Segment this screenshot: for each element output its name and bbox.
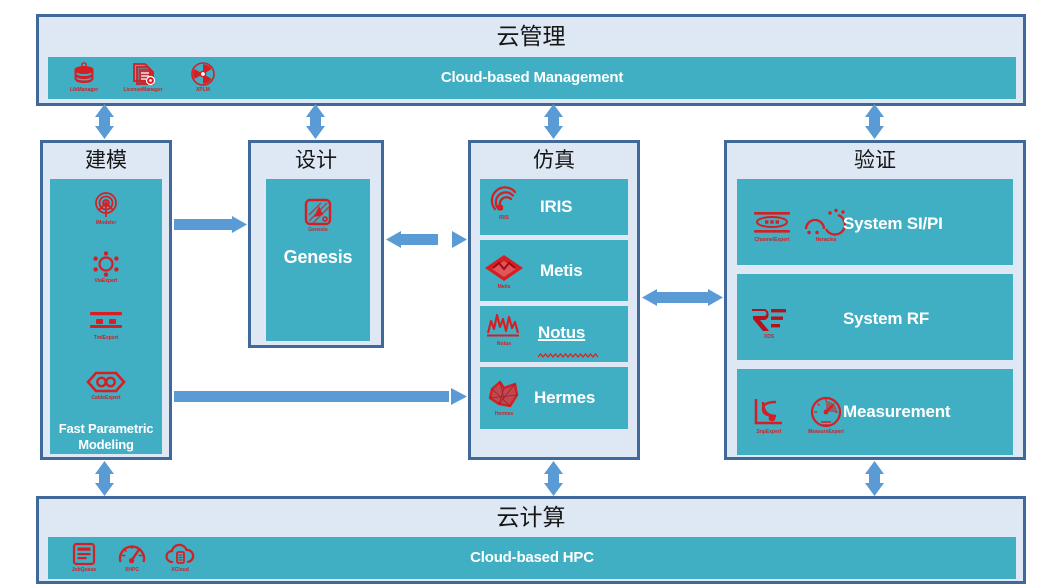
arrow-modeling-simulation bbox=[174, 388, 467, 405]
arrow-cloudmgmt-modeling bbox=[95, 104, 114, 139]
arrow-modeling-cloudhpc bbox=[95, 461, 114, 496]
arrow-layer bbox=[0, 0, 1040, 588]
arrow-cloudmgmt-simulation bbox=[544, 104, 563, 139]
arrow-simulation-cloudhpc bbox=[544, 461, 563, 496]
arrow-simulation-verification bbox=[642, 289, 723, 306]
arrow-cloudmgmt-verification bbox=[865, 104, 884, 139]
arrow-cloudmgmt-design bbox=[306, 104, 325, 139]
arrow-modeling-design bbox=[174, 216, 247, 233]
arrow-verification-cloudhpc bbox=[865, 461, 884, 496]
arrow-design-simulation bbox=[386, 231, 467, 248]
